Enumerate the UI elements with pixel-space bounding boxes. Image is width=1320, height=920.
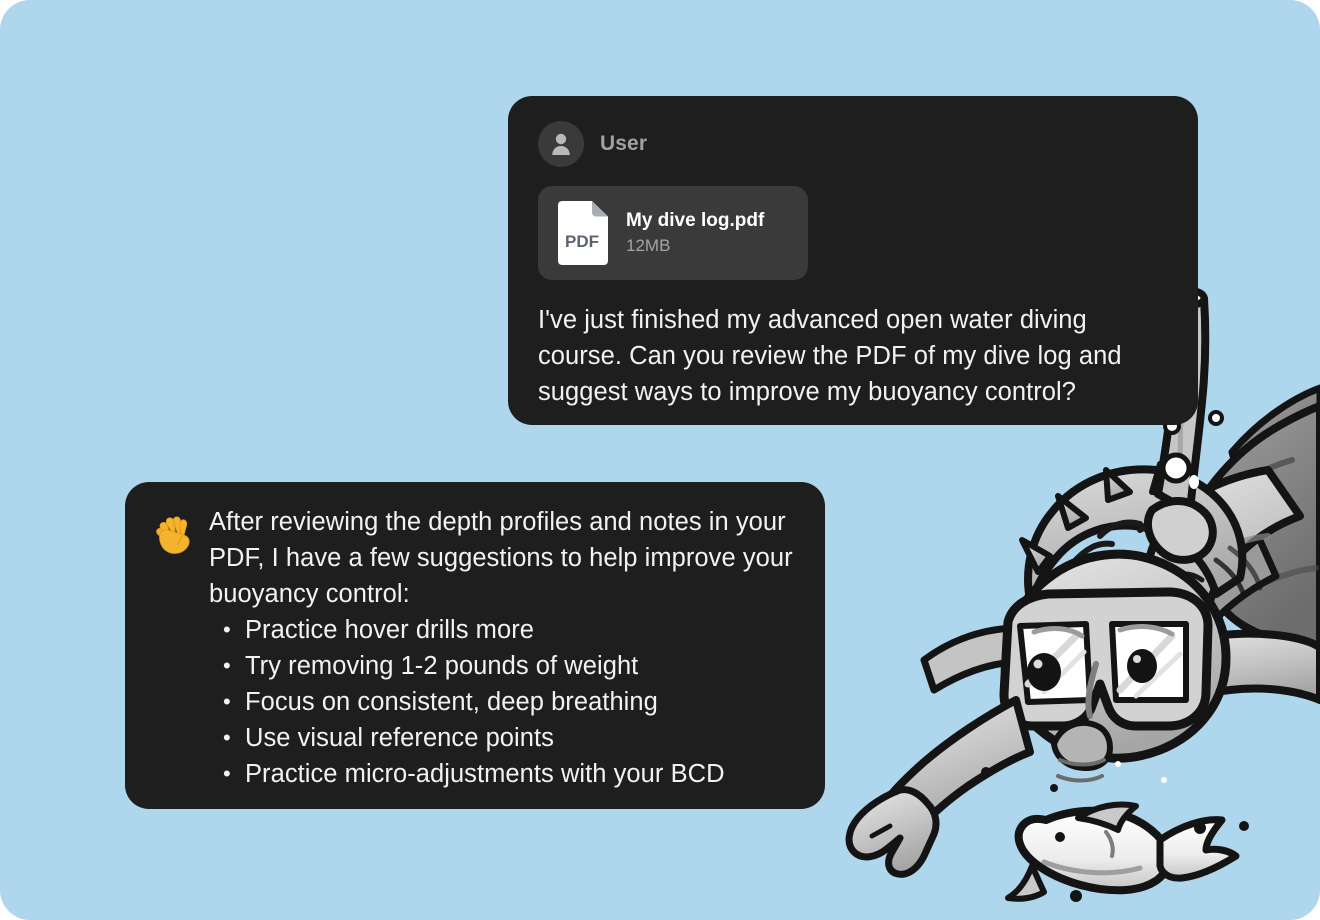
swimmer-arm-far xyxy=(1152,634,1320,704)
file-meta: My dive log.pdf 12MB xyxy=(626,209,764,258)
swimmer-arm-near xyxy=(884,700,1030,830)
list-item: Practice micro-adjustments with your BCD xyxy=(245,756,799,792)
swimmer-face xyxy=(1005,554,1226,758)
fish-lower-fin xyxy=(1008,866,1044,899)
diving-mask xyxy=(1004,592,1208,726)
assistant-message-bubble: After reviewing the depth profiles and n… xyxy=(125,482,825,809)
swimmer-waistband xyxy=(1184,536,1276,632)
user-message-bubble: User PDF My dive log.pdf 12MB I've just … xyxy=(508,96,1198,425)
user-message-text: I've just finished my advanced open wate… xyxy=(538,302,1170,410)
swimmer-shorts xyxy=(1188,406,1320,650)
mask-lens-right xyxy=(1112,624,1186,700)
eye-left xyxy=(1027,653,1061,691)
assistant-intro: After reviewing the depth profiles and n… xyxy=(209,504,799,612)
fish-eye xyxy=(1055,832,1065,842)
list-item: Practice hover drills more xyxy=(245,612,799,648)
eye-right xyxy=(1127,649,1157,683)
list-item: Focus on consistent, deep breathing xyxy=(245,684,799,720)
mask-lens-left xyxy=(1020,624,1090,702)
suggestion-list: Practice hover drills more Try removing … xyxy=(209,612,799,792)
air-bubbles xyxy=(981,382,1249,902)
assistant-row: After reviewing the depth profiles and n… xyxy=(149,504,799,792)
mouth xyxy=(1054,723,1110,768)
avatar xyxy=(538,121,584,167)
file-attachment-card[interactable]: PDF My dive log.pdf 12MB xyxy=(538,186,808,280)
svg-text:PDF: PDF xyxy=(565,232,599,251)
person-icon xyxy=(548,131,574,157)
file-size: 12MB xyxy=(626,235,764,257)
swimmer-hand xyxy=(849,790,936,875)
page-root: User PDF My dive log.pdf 12MB I've just … xyxy=(0,0,1320,920)
swimmer-hair xyxy=(1028,469,1242,602)
list-item: Use visual reference points xyxy=(245,720,799,756)
swimmer-leg-far xyxy=(1232,388,1320,530)
message-header: User xyxy=(538,120,1170,168)
swimmer-torso xyxy=(1146,470,1300,656)
mask-strap xyxy=(924,628,1014,690)
waving-hand-emoji xyxy=(149,512,197,556)
pdf-file-icon: PDF xyxy=(554,199,610,267)
file-name: My dive log.pdf xyxy=(626,209,764,233)
list-item: Try removing 1-2 pounds of weight xyxy=(245,648,799,684)
fish xyxy=(1008,805,1236,899)
author-name: User xyxy=(600,132,647,156)
fish-tail xyxy=(1160,820,1236,878)
assistant-body: After reviewing the depth profiles and n… xyxy=(209,504,799,792)
fish-dorsal-fin xyxy=(1078,805,1136,831)
snorkel-mouthpiece xyxy=(1148,501,1213,560)
